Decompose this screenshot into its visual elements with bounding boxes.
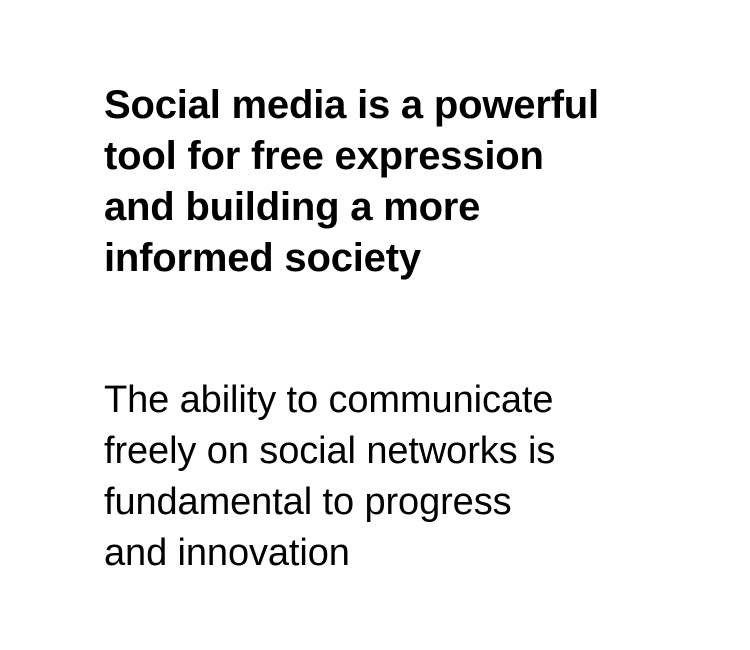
headline-block: Social media is a powerful tool for free… bbox=[104, 80, 664, 284]
body-line-1: The ability to communicate bbox=[104, 375, 664, 426]
headline-line-2: tool for free expression bbox=[104, 131, 664, 182]
slide-canvas: Social media is a powerful tool for free… bbox=[0, 0, 750, 650]
headline-line-3: and building a more bbox=[104, 182, 664, 233]
body-line-2: freely on social networks is bbox=[104, 426, 664, 477]
headline-line-1: Social media is a powerful bbox=[104, 80, 664, 131]
body-paragraph-block: The ability to communicate freely on soc… bbox=[104, 375, 664, 579]
body-line-4: and innovation bbox=[104, 528, 664, 579]
body-line-3: fundamental to progress bbox=[104, 477, 664, 528]
headline-line-4: informed society bbox=[104, 233, 664, 284]
